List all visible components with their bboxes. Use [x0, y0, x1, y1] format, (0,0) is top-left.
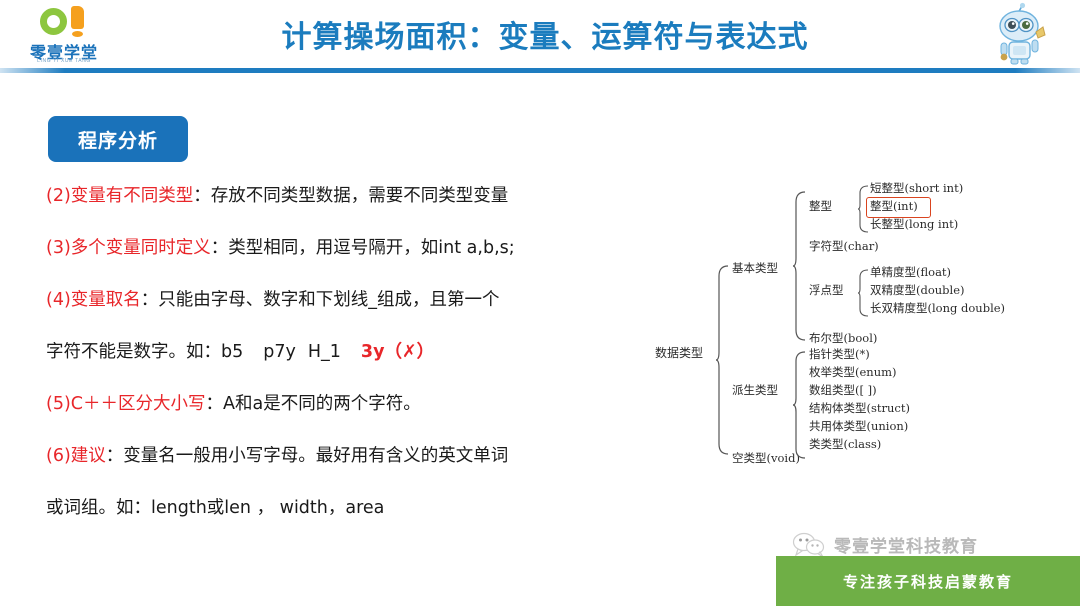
tree-node-char: 字符型(char) [809, 240, 879, 253]
tree-node-array: 数组类型([ ]) [809, 384, 877, 397]
content-line: (4)变量取名：只能由字母、数字和下划线_组成，且第一个 [46, 292, 666, 344]
content-line: (5)C＋＋区分大小写：A和a是不同的两个字符。 [46, 396, 666, 448]
tree-node-basic-type: 基本类型 [732, 262, 778, 275]
content-line: 字符不能是数字。如：b5p7yH_13y（✗） [46, 344, 666, 396]
tree-node-integer-group: 整型 [809, 200, 832, 213]
footer-slogan: 专注孩子科技启蒙教育 [776, 556, 1080, 606]
tree-node-pointer: 指针类型(*) [809, 348, 870, 361]
logo-pinyin: LING YI XUE TANG [14, 58, 114, 64]
line-separator: ： [211, 238, 229, 258]
tree-node-float-group: 浮点型 [809, 284, 844, 297]
line-body: 存放不同类型数据，需要不同类型变量 [211, 186, 509, 206]
tree-node-void-type: 空类型(void) [732, 452, 800, 465]
tree-node-float: 单精度型(float) [870, 266, 951, 279]
line-keyword: 变量有不同类型 [71, 186, 194, 206]
content-line: (6)建议：变量名一般用小写字母。最好用有含义的英文单词 [46, 448, 666, 500]
brand-logo: 零壹学堂 LING YI XUE TANG [14, 6, 114, 66]
line-separator: ： [206, 394, 224, 414]
slide-canvas: 零壹学堂 LING YI XUE TANG 计算操场面积：变量、运算符与表达式 [0, 0, 1080, 606]
data-type-tree-diagram: 数据类型 基本类型 派生类型 空类型(void) 整型 字符型(char) 浮点… [655, 172, 1075, 472]
line-keyword: 建议 [71, 446, 106, 466]
line-body: 或词组。如：length或len ， width，area [46, 498, 384, 518]
line-number: (6) [46, 446, 71, 466]
example-h1: H_1 [308, 342, 341, 362]
tree-node-enum: 枚举类型(enum) [809, 366, 897, 379]
line-number: (2) [46, 186, 71, 206]
tree-node-short-int: 短整型(short int) [870, 182, 963, 195]
line-keyword: 多个变量同时定义 [71, 238, 211, 258]
tree-node-root: 数据类型 [655, 347, 703, 360]
section-badge: 程序分析 [48, 116, 188, 162]
line-body: A和a是不同的两个字符。 [223, 394, 421, 414]
content-line: (3)多个变量同时定义：类型相同，用逗号隔开，如int a,b,s; [46, 240, 666, 292]
tree-node-struct: 结构体类型(struct) [809, 402, 910, 415]
line-body: 只能由字母、数字和下划线_组成，且第一个 [158, 290, 499, 310]
example-p7y: p7y [263, 342, 296, 362]
content-text-block: (2)变量有不同类型：存放不同类型数据，需要不同类型变量 (3)多个变量同时定义… [46, 188, 666, 552]
line-body: 变量名一般用小写字母。最好用有含义的英文单词 [123, 446, 508, 466]
tree-node-long-int: 长整型(long int) [870, 218, 958, 231]
line-keyword: 变量取名 [71, 290, 141, 310]
wechat-icon [792, 532, 826, 558]
content-line: (2)变量有不同类型：存放不同类型数据，需要不同类型变量 [46, 188, 666, 240]
footer-banner: 专注孩子科技启蒙教育 [776, 556, 1080, 606]
tree-node-union: 共用体类型(union) [809, 420, 908, 433]
tree-node-derived-type: 派生类型 [732, 384, 778, 397]
line-separator: ： [193, 186, 211, 206]
tree-node-double: 双精度型(double) [870, 284, 965, 297]
line-number: (4) [46, 290, 71, 310]
page-title: 计算操场面积：变量、运算符与表达式 [150, 12, 940, 56]
tree-node-bool: 布尔型(bool) [809, 332, 877, 345]
line-keyword: C＋＋区分大小写 [71, 394, 206, 414]
tree-node-long-double: 长双精度型(long double) [870, 302, 1005, 315]
highlight-box-int [866, 197, 931, 218]
line-body: 字符不能是数字。如：b5 [46, 342, 243, 362]
footer-brand-text: 零壹学堂科技教育 [834, 532, 978, 557]
line-number: (5) [46, 394, 71, 414]
line-body: 类型相同，用逗号隔开，如int a,b,s; [228, 238, 514, 258]
logo-01-icon [40, 6, 96, 38]
example-3y-invalid: 3y（✗） [361, 342, 434, 362]
line-separator: ： [106, 446, 124, 466]
line-separator: ： [141, 290, 159, 310]
slide-header: 零壹学堂 LING YI XUE TANG 计算操场面积：变量、运算符与表达式 [0, 0, 1080, 72]
content-line: 或词组。如：length或len ， width，area [46, 500, 666, 552]
header-divider [0, 68, 1080, 73]
tree-node-class: 类类型(class) [809, 438, 881, 451]
robot-mascot-icon [986, 2, 1058, 66]
line-number: (3) [46, 238, 71, 258]
